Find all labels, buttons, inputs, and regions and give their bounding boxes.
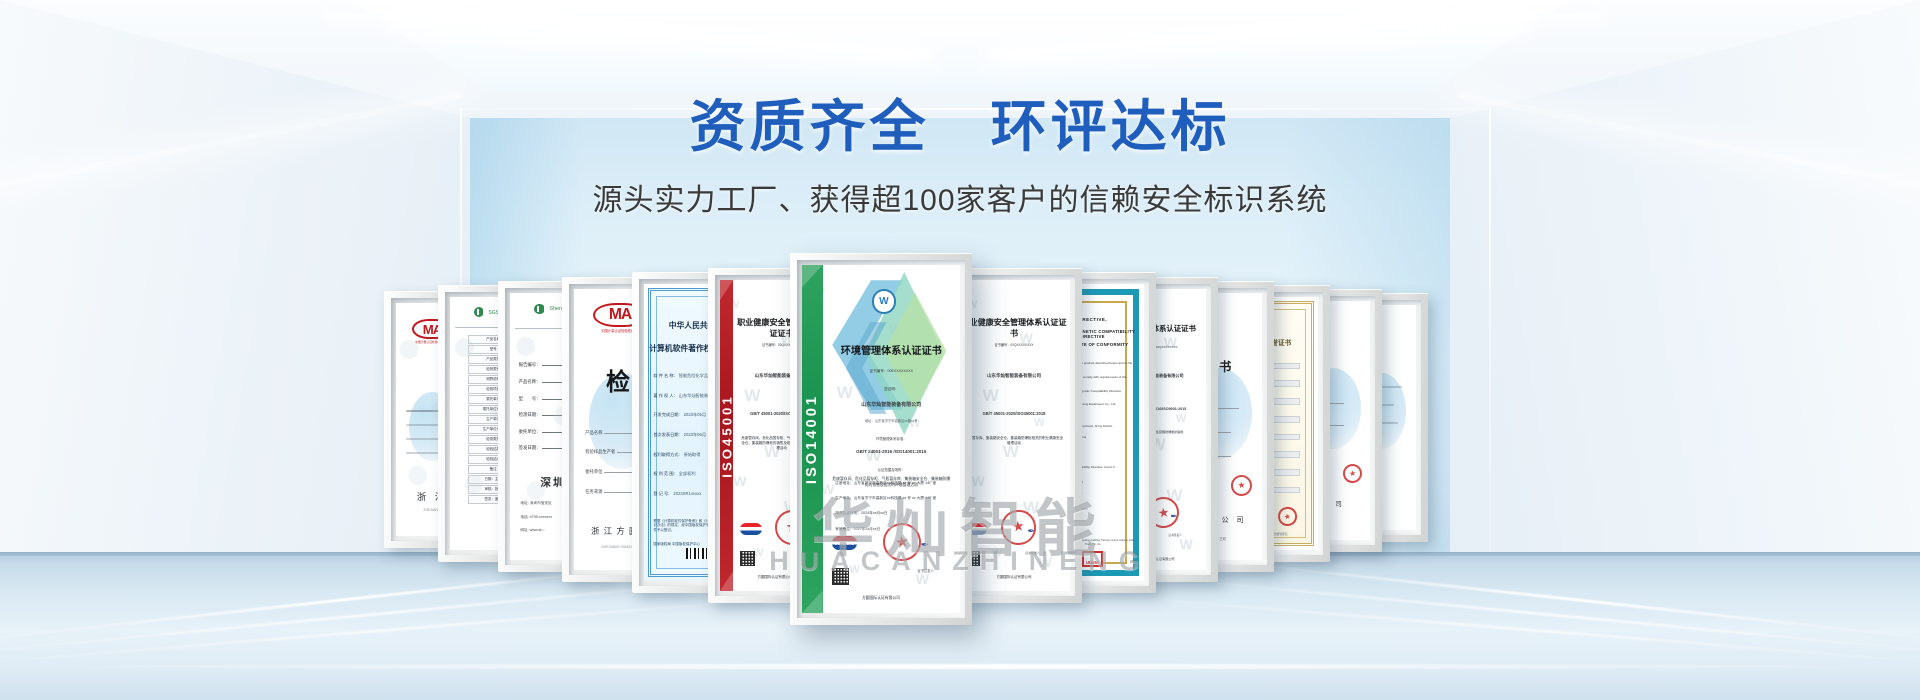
page-subtitle: 源头实力工厂、获得超100家客户的信赖安全标识系统 [0,175,1920,219]
iso-code-band: ISO45001 [720,280,733,591]
form-field-label: 报告编号： [519,362,541,367]
official-red-stamp: ★ [1230,473,1254,497]
hero-headings: 资质齐全 环评达标 源头实力工厂、获得超100家客户的信赖安全标识系统 [0,96,1920,219]
paper-watermark-glyph: W [916,571,929,587]
copyright-field-label: 首次发表日期: [653,432,679,438]
certificate-company: 山东华灿智能装备有限公司 [823,401,960,408]
certificate-detail-line: 初次认证日期：2024年xx月xx日 [835,511,950,516]
cma-logo-text: MA [609,306,631,324]
certificate-standard: GB/T 45001-2020/ISO45001:2018 [958,411,1070,416]
band-corner-accent-bottom [720,571,733,591]
iso-code-label: ISO14001 [804,394,820,484]
paper-watermark-glyph: W [992,547,1002,559]
iso-code-label: ISO45001 [720,394,734,477]
copyright-field-value: 2023年05月 [684,412,706,418]
form-field-underline [604,433,636,434]
certificate-standard-label: 环境管理体系标准： [823,436,960,441]
page-title: 资质齐全 环评达标 [0,96,1920,159]
certificate-paper: WWWWWWWWW W ISO14001 环境管理体系认证证书 证书编号：00E… [802,265,960,613]
certificate-detail-line: 生产地址：山东省济宁市高新区xx科技路 xx 号 xx 大厦 14F 室 [835,496,950,501]
issuer-contact-line: 网址: www.sh... [520,528,545,533]
copyright-field-value: 原始取得 [684,452,701,458]
band-corner-accent-top [802,265,823,288]
hero-banner-stage: 资质齐全 环评达标 源头实力工厂、获得超100家客户的信赖安全标识系统 MA 中… [0,0,1920,700]
copyright-field-label: 权利取得方式: [653,452,679,458]
frame-mat: WWWWWWWWW W ISO14001 环境管理体系认证证书 证书编号：00E… [802,265,960,613]
signer-label: 证书签发人 [1168,533,1181,537]
frame-mat: WWWWWWWWW 职业健康安全管理体系认证证书 证书编号：00QXXXXXXX… [958,280,1070,591]
copyright-field-label: 著 作 权 人: [653,393,674,399]
certificate-paper: WWWWWWWWW 职业健康安全管理体系认证证书 证书编号：00QXXXXXXX… [958,280,1070,591]
frame-inner-bevel: WWWWWWWWW W ISO14001 环境管理体系认证证书 证书编号：00E… [797,260,965,618]
certificate-frame[interactable]: WWWWWWWWW W ISO14001 环境管理体系认证证书 证书编号：00E… [790,253,972,625]
verification-qr-code [832,568,849,585]
paper-watermark-glyph: W [849,564,859,576]
stamp-star-icon: ★ [1010,519,1025,537]
copyright-field-value: 全部权利 [679,471,696,477]
certificate-company-label: 兹证明： [823,387,960,392]
certificate-scope: 气瓶暂存库、集装箱安全仓、集装箱防爆柜相关的职业健康安全管理活动 [965,436,1064,446]
band-corner-accent-bottom [802,591,823,614]
certificate-standard: GB/T 24001-2016 /ISO14001:2015 [823,449,960,454]
form-field-underline [604,492,636,493]
certificate-number: 证书编号：00QXXXXXXXX [958,342,1070,347]
accreditation-mark-icon: IAF/CNAS [740,523,762,535]
form-field-label: 产品名称 [585,430,602,435]
page-title-part2: 环评达标 [991,95,1231,158]
verification-qr-code [740,551,755,566]
copyright-field-label: 开发完成日期: [653,412,679,418]
copyright-field-label: 权 利 范 围: [653,471,674,477]
paper-watermark-glyph: W [1039,554,1052,570]
issuer-contact-line: 电话: 0755-xxxxxxx [520,515,552,520]
certificate-company: 山东华灿智能装备有限公司 [958,373,1070,379]
copyright-field-label: 软 件 名 称: [653,373,674,379]
page-title-part1: 资质齐全 [689,95,929,158]
official-red-stamp: ★ [1342,462,1364,484]
paper-watermark-glyph: W [1176,413,1186,425]
form-field-label: 签发日期： [519,445,541,450]
paper-watermark-glyph: W [1034,417,1044,429]
form-field-label: 委托单位： [519,429,541,434]
paper-watermark-glyph: W [1180,536,1193,552]
paper-watermark-glyph: W [971,473,984,489]
certificate-address: 地址：山东省济宁市高新区xx路xx号 [823,418,960,423]
copyright-field-label: 登 记 号: [653,491,669,497]
copyright-field-value: 2023年06月 [684,432,706,438]
signer-label: 证书签发人 [917,568,933,573]
form-field-label: 委托单位 [585,469,602,474]
certificate-title: 职业健康安全管理体系认证证书 [958,317,1070,339]
band-corner-accent-top [720,280,733,300]
certificate-scope-label: 认证范围及场所： [823,467,960,472]
lab-logo-icon [534,304,545,315]
stamp-star-icon: ★ [1237,479,1246,491]
paper-watermark-glyph: W [744,386,760,406]
lab-logo-icon [474,307,484,317]
stamp-star-icon: ★ [1157,504,1171,521]
form-field-label: 检测日期： [519,412,541,417]
form-field-label: 检验样品生产者 [585,449,615,454]
form-field-label: 产品名称： [519,379,541,384]
authorized-signature: ✒ [1027,526,1035,537]
copyright-field-value: 2023SR1xxxxx [673,491,701,497]
stamp-star-icon: ★ [1283,511,1291,521]
form-field-underline [604,472,636,473]
paper-watermark-glyph: W [733,473,746,489]
udem-badge-icon: UDEM [1082,551,1103,567]
accreditation-mark-icon: IAF/CNAS [832,536,857,550]
certificate-title: 环境管理体系认证证书 [823,342,960,357]
iso-code-band: ISO14001 [802,265,823,613]
issuer-contact-line: 地址: 深圳市宝安区 [520,501,552,506]
authorized-signature: ✒ [1170,511,1177,521]
paper-watermark-glyph: W [983,386,999,406]
form-field-label: 型 号： [519,396,541,401]
certificate-number: 证书编号：00EXXXXXXXX [823,369,960,374]
form-field-label: 任务来源 [585,489,602,494]
stamp-star-icon: ★ [893,531,910,553]
signer-label: 证书签发人 [1025,551,1039,555]
certificate-detail-line: 注册地址：山东省济宁市高新区xx科技路 xx 号 xx 大厦 14F 室 [835,481,950,486]
certificate-issuer: 方圆国际认证有限公司 [802,596,960,601]
certificate-issuer: 方圆国际认证有限公司 [958,575,1070,580]
stamp-star-icon: ★ [1349,468,1357,478]
authorized-signature: ✒ [921,540,929,551]
